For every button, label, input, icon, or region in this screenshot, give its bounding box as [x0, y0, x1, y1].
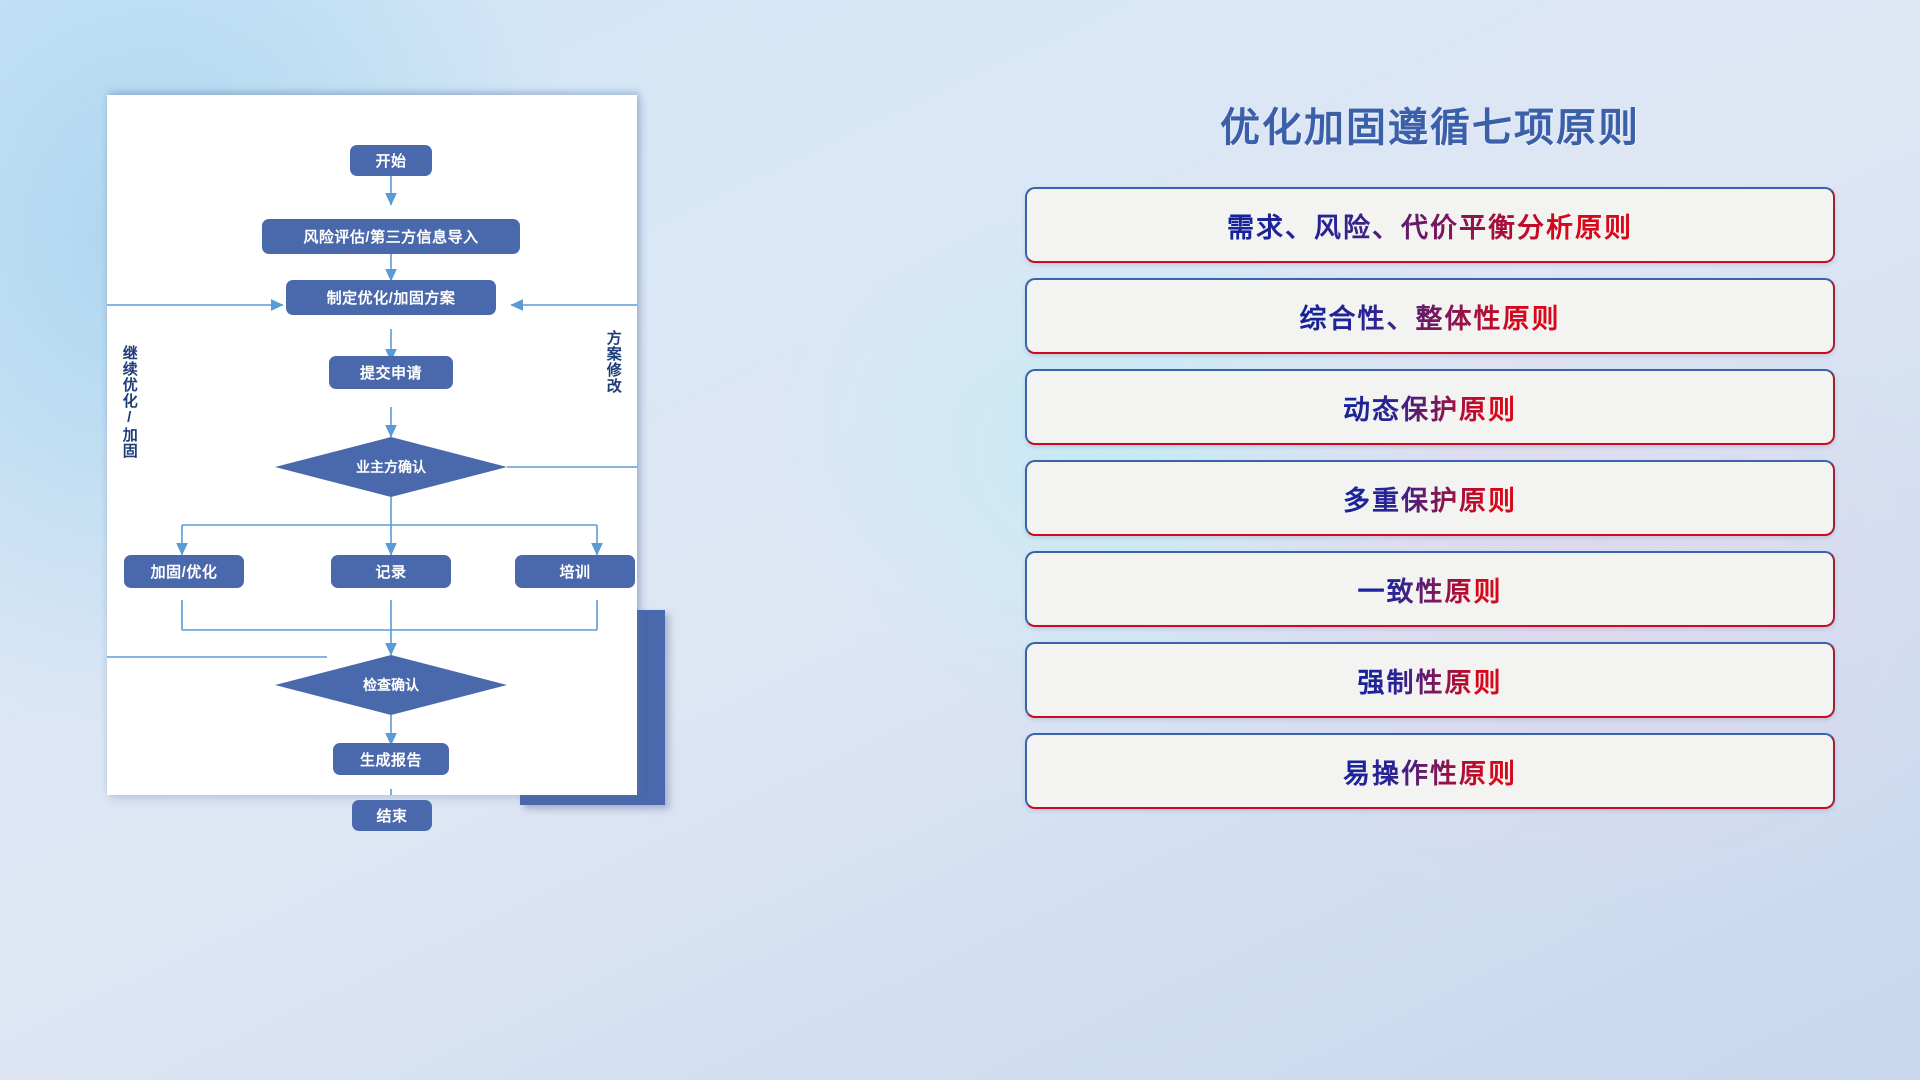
- principle-item[interactable]: 强制性原则: [1025, 642, 1835, 718]
- principle-item-label: 综合性、整体性原则: [1300, 297, 1561, 336]
- node-record[interactable]: 记录: [331, 555, 451, 588]
- principle-item-label: 多重保护原则: [1343, 479, 1517, 518]
- principle-item-label: 动态保护原则: [1343, 388, 1517, 427]
- principle-item-label: 强制性原则: [1358, 661, 1503, 700]
- decision-owner-shape: [275, 437, 507, 497]
- flowchart-card: 开始 风险评估/第三方信息导入 制定优化/加固方案 提交申请 业主方确认 加固/…: [107, 95, 637, 795]
- node-end[interactable]: 结束: [352, 800, 432, 831]
- principles-panel: 优化加固遵循七项原则 需求、风险、代价平衡分析原则 综合性、整体性原则 动态保护…: [1020, 95, 1840, 1015]
- panel-title: 优化加固遵循七项原则: [1020, 95, 1840, 153]
- node-start[interactable]: 开始: [350, 145, 432, 176]
- decision-check-shape: [275, 655, 507, 715]
- principle-item-label: 一致性原则: [1358, 570, 1503, 609]
- principle-item[interactable]: 一致性原则: [1025, 551, 1835, 627]
- node-end-label: 结束: [376, 805, 407, 826]
- node-record-label: 记录: [375, 561, 406, 582]
- node-risk-assessment-label: 风险评估/第三方信息导入: [303, 226, 478, 247]
- node-plan[interactable]: 制定优化/加固方案: [286, 280, 496, 315]
- principle-item-label: 需求、风险、代价平衡分析原则: [1227, 206, 1633, 245]
- node-training-label: 培训: [559, 561, 590, 582]
- principle-item[interactable]: 动态保护原则: [1025, 369, 1835, 445]
- node-submit[interactable]: 提交申请: [329, 356, 453, 389]
- principle-item[interactable]: 多重保护原则: [1025, 460, 1835, 536]
- edge-label-plan-revision: 方案修改: [605, 330, 621, 394]
- principle-item[interactable]: 需求、风险、代价平衡分析原则: [1025, 187, 1835, 263]
- edge-label-plan-revision-text: 方案修改: [605, 330, 622, 394]
- node-start-label: 开始: [375, 150, 406, 171]
- edge-label-continue-optimize: 继续优化/加固: [121, 345, 137, 459]
- node-submit-label: 提交申请: [360, 362, 422, 383]
- principle-item-label: 易操作性原则: [1343, 752, 1517, 791]
- principle-item[interactable]: 易操作性原则: [1025, 733, 1835, 809]
- node-training[interactable]: 培训: [515, 555, 635, 588]
- flowchart-region: 开始 风险评估/第三方信息导入 制定优化/加固方案 提交申请 业主方确认 加固/…: [0, 0, 840, 1080]
- principle-item[interactable]: 综合性、整体性原则: [1025, 278, 1835, 354]
- node-risk-assessment[interactable]: 风险评估/第三方信息导入: [262, 219, 520, 254]
- node-report[interactable]: 生成报告: [333, 743, 449, 775]
- flowchart-connectors: [107, 95, 637, 795]
- node-plan-label: 制定优化/加固方案: [327, 287, 456, 308]
- edge-label-continue-optimize-text: 继续优化/加固: [121, 345, 138, 459]
- node-reinforce[interactable]: 加固/优化: [124, 555, 244, 588]
- node-reinforce-label: 加固/优化: [151, 561, 218, 582]
- node-report-label: 生成报告: [360, 749, 422, 770]
